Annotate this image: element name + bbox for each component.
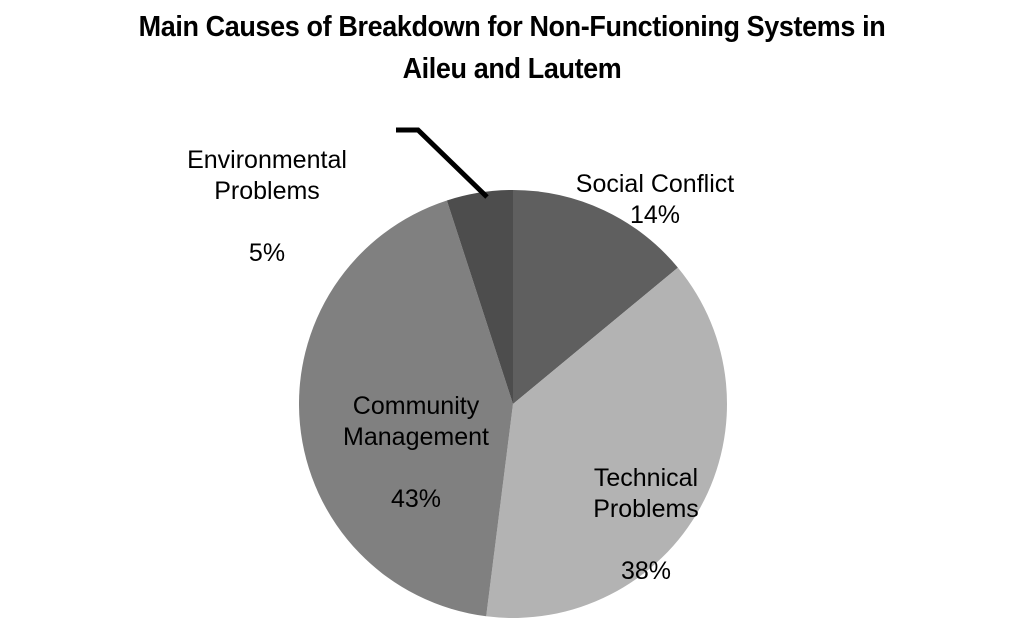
slice-label-technical-problems-name-line-2: Problems [546, 494, 746, 525]
chart-title: Main Causes of Breakdown for Non-Functio… [36, 6, 988, 90]
slice-label-community-management-percent: 43% [300, 484, 532, 515]
slice-label-environmental-problems: Environmental Problems 5% [152, 114, 382, 300]
slice-label-environmental-problems-name-line-1: Environmental [187, 146, 347, 174]
slice-label-social-conflict: Social Conflict 14% [540, 138, 770, 262]
slice-label-social-conflict-name: Social Conflict [576, 170, 734, 198]
chart-title-line-2: Aileu and Lautem [403, 53, 622, 85]
slice-label-environmental-problems-name-line-2: Problems [152, 176, 382, 207]
chart-title-line-1: Main Causes of Breakdown for Non-Functio… [139, 11, 886, 43]
slice-label-community-management-name-line-1: Community [353, 392, 479, 420]
slice-label-environmental-problems-percent: 5% [152, 238, 382, 269]
slice-label-social-conflict-percent: 14% [540, 200, 770, 231]
slice-label-community-management-name-line-2: Management [300, 422, 532, 453]
slice-label-community-management: Community Management 43% [300, 360, 532, 546]
pie-chart-figure: Main Causes of Breakdown for Non-Functio… [0, 0, 1024, 637]
slice-label-technical-problems: Technical Problems 38% [546, 432, 746, 618]
slice-label-technical-problems-name-line-1: Technical [594, 464, 698, 492]
slice-label-technical-problems-percent: 38% [546, 556, 746, 587]
environmental-problems-leader-line [396, 130, 487, 197]
